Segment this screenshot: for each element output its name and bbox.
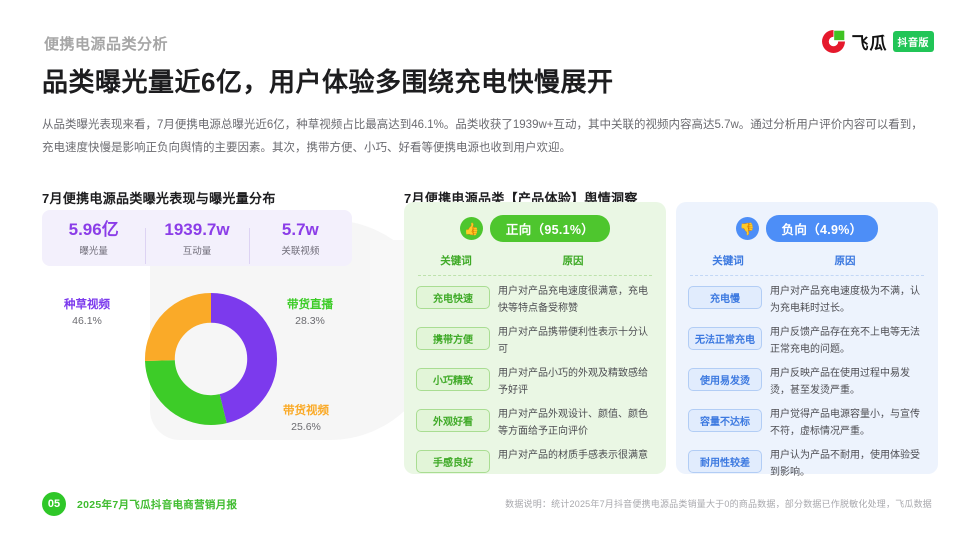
footer-title: 2025年7月飞瓜抖音电商营销月报 [77,497,237,512]
keyword-tag[interactable]: 容量不达标 [688,409,762,432]
keyword-tag[interactable]: 携带方便 [416,327,490,350]
keyword-tag[interactable]: 外观好看 [416,409,490,432]
sentiment-row: 无法正常充电用户反馈产品存在充不上电等无法正常充电的问题。 [688,322,926,358]
sentiment-row: 手感良好用户对产品的材质手感表示很满意 [416,445,654,473]
negative-sentiment-panel: 👎 负向（4.9%） 关键词 原因 充电慢用户对产品充电速度极为不满，认为充电耗… [676,202,938,474]
stat-label: 关联视频 [249,243,352,257]
sentiment-row: 使用易发烫用户反映产品在使用过程中易发烫，甚至发烫严重。 [688,363,926,399]
feigua-logo-icon [820,28,847,55]
report-slide: 便携电源品类分析 品类曝光量近6亿，用户体验多围绕充电快慢展开 飞瓜 抖音版 从… [0,0,960,540]
thumbs-down-icon: 👎 [736,217,759,240]
sentiment-row: 外观好看用户对产品外观设计、颜值、颜色等方面给予正向评价 [416,404,654,440]
stat-exposure: 5.96亿 曝光量 [42,219,145,256]
stat-label: 曝光量 [42,243,145,257]
stat-value: 5.7w [249,219,352,240]
keyword-tag[interactable]: 无法正常充电 [688,327,762,350]
positive-badge: 正向（95.1%） [490,215,610,242]
keyword-tag[interactable]: 耐用性较差 [688,450,762,473]
keyword-tag[interactable]: 充电快速 [416,286,490,309]
reason-text: 用户认为产品不耐用，使用体验受到影响。 [762,445,926,481]
donut-label-value: 25.6% [260,420,352,436]
stat-value: 5.96亿 [42,219,145,240]
column-header-keyword: 关键词 [690,253,766,268]
reason-text: 用户反馈产品存在充不上电等无法正常充电的问题。 [762,322,926,358]
positive-column-headers: 关键词 原因 [404,242,666,268]
donut-label-value: 46.1% [44,314,130,330]
page-title: 品类曝光量近6亿，用户体验多围绕充电快慢展开 [42,62,613,99]
sentiment-row: 充电快速用户对产品充电速度很满意，充电快等特点备受称赞 [416,281,654,317]
donut-label-name: 种草视频 [44,298,130,314]
reason-text: 用户对产品外观设计、颜值、颜色等方面给予正向评价 [490,404,654,440]
donut-label-2: 带货视频 25.6% [260,404,352,435]
reason-text: 用户觉得产品电源容量小，与宣传不符，虚标情况严重。 [762,404,926,440]
reason-text: 用户对产品充电速度极为不满，认为充电耗时过长。 [762,281,926,317]
reason-text: 用户对产品小巧的外观及精致感给予好评 [490,363,654,399]
brand-logo: 飞瓜 抖音版 [820,28,935,55]
negative-panel-header: 👎 负向（4.9%） [676,202,938,242]
reason-text: 用户反映产品在使用过程中易发烫，甚至发烫严重。 [762,363,926,399]
stat-label: 互动量 [145,243,248,257]
positive-sentiment-panel: 👍 正向（95.1%） 关键词 原因 充电快速用户对产品充电速度很满意，充电快等… [404,202,666,474]
stat-value: 1939.7w [145,219,248,240]
reason-text: 用户对产品的材质手感表示很满意 [490,445,654,465]
footer: 05 2025年7月飞瓜抖音电商营销月报 [42,492,237,516]
left-section-title: 7月便携电源品类曝光表现与曝光量分布 [42,188,276,207]
stat-related-videos: 5.7w 关联视频 [249,219,352,256]
exposure-donut-chart: 种草视频 46.1% 带货直播 28.3% 带货视频 25.6% [42,276,372,466]
sentiment-row: 容量不达标用户觉得产品电源容量小，与宣传不符，虚标情况严重。 [688,404,926,440]
donut-label-name: 带货视频 [260,404,352,420]
donut-label-value: 28.3% [264,314,356,330]
stats-panel: 5.96亿 曝光量 1939.7w 互动量 5.7w 关联视频 [42,210,352,266]
column-header-keyword: 关键词 [418,253,494,268]
stat-interaction: 1939.7w 互动量 [145,219,248,256]
reason-text: 用户对产品充电速度很满意，充电快等特点备受称赞 [490,281,654,317]
donut-label-1: 带货直播 28.3% [264,298,356,329]
sentiment-row: 携带方便用户对产品携带便利性表示十分认可 [416,322,654,358]
thumbs-up-icon: 👍 [460,217,483,240]
keyword-tag[interactable]: 手感良好 [416,450,490,473]
column-header-reason: 原因 [494,253,652,268]
donut-label-0: 种草视频 46.1% [44,298,130,329]
positive-panel-header: 👍 正向（95.1%） [404,202,666,242]
negative-badge: 负向（4.9%） [766,215,879,242]
footer-note: 数据说明：统计2025年7月抖音便携电源品类销量大于0的商品数据，部分数据已作脱… [505,497,932,510]
intro-paragraph: 从品类曝光表现来看，7月便携电源总曝光近6亿，种草视频占比最高达到46.1%。品… [42,114,926,160]
keyword-tag[interactable]: 充电慢 [688,286,762,309]
donut-label-name: 带货直播 [264,298,356,314]
sentiment-row: 耐用性较差用户认为产品不耐用，使用体验受到影响。 [688,445,926,481]
eyebrow-label: 便携电源品类分析 [44,33,168,54]
reason-text: 用户对产品携带便利性表示十分认可 [490,322,654,358]
sentiment-row: 充电慢用户对产品充电速度极为不满，认为充电耗时过长。 [688,281,926,317]
logo-badge: 抖音版 [893,31,935,52]
positive-rows: 充电快速用户对产品充电速度很满意，充电快等特点备受称赞携带方便用户对产品携带便利… [404,276,666,473]
negative-column-headers: 关键词 原因 [676,242,938,268]
keyword-tag[interactable]: 小巧精致 [416,368,490,391]
column-header-reason: 原因 [766,253,924,268]
page-number-badge: 05 [42,492,66,516]
sentiment-row: 小巧精致用户对产品小巧的外观及精致感给予好评 [416,363,654,399]
keyword-tag[interactable]: 使用易发烫 [688,368,762,391]
negative-rows: 充电慢用户对产品充电速度极为不满，认为充电耗时过长。无法正常充电用户反馈产品存在… [676,276,938,481]
logo-text: 飞瓜 [852,29,888,54]
